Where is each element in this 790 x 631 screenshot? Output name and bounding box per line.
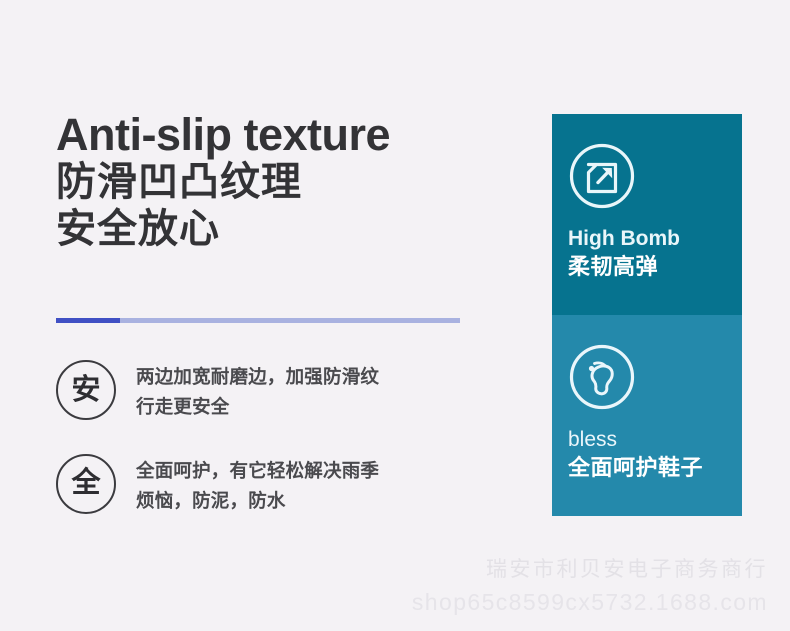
feature-card-panel: High Bomb 柔韧高弹 bless 全面呵护鞋子 — [552, 114, 742, 516]
footprint-icon — [568, 343, 636, 411]
list-item: 全 全面呵护，有它轻松解决雨季 烦恼，防泥，防水 — [56, 452, 516, 516]
watermark-shop-name: 瑞安市利贝安电子商务商行 — [412, 555, 768, 585]
section-divider — [56, 318, 460, 323]
card-chinese-label: 柔韧高弹 — [568, 253, 742, 282]
feature-card-bless: bless 全面呵护鞋子 — [552, 315, 742, 516]
product-detail-poster: Anti-slip texture 防滑凹凸纹理 安全放心 安 两边加宽耐磨边，… — [0, 0, 790, 631]
feature-text-line-2: 烦恼，防泥，防水 — [136, 486, 379, 516]
divider-accent-segment — [56, 318, 120, 323]
watermark-shop-url: shop65c8599cx5732.1688.com — [412, 586, 768, 619]
headline-english: Anti-slip texture — [56, 112, 526, 158]
feature-list: 安 两边加宽耐磨边，加强防滑纹 行走更安全 全 全面呵护，有它轻松解决雨季 烦恼… — [56, 358, 516, 546]
headline-block: Anti-slip texture 防滑凹凸纹理 安全放心 — [56, 112, 526, 254]
feature-text-line-1: 全面呵护，有它轻松解决雨季 — [136, 456, 379, 486]
headline-chinese-line-1: 防滑凹凸纹理 — [56, 158, 526, 207]
feature-text-line-1: 两边加宽耐磨边，加强防滑纹 — [136, 362, 379, 392]
card-chinese-label: 全面呵护鞋子 — [568, 454, 742, 483]
feature-text: 两边加宽耐磨边，加强防滑纹 行走更安全 — [136, 358, 379, 422]
watermark: 瑞安市利贝安电子商务商行 shop65c8599cx5732.1688.com — [412, 555, 768, 619]
circle-badge-icon: 安 — [56, 360, 116, 420]
circle-badge-icon: 全 — [56, 454, 116, 514]
feature-text-line-2: 行走更安全 — [136, 392, 379, 422]
feature-card-high-bomb: High Bomb 柔韧高弹 — [552, 114, 742, 315]
card-english-label: bless — [568, 427, 742, 452]
headline-chinese-line-2: 安全放心 — [56, 205, 526, 254]
feature-text: 全面呵护，有它轻松解决雨季 烦恼，防泥，防水 — [136, 452, 379, 516]
card-english-label: High Bomb — [568, 226, 742, 251]
expand-arrow-icon — [568, 142, 636, 210]
list-item: 安 两边加宽耐磨边，加强防滑纹 行走更安全 — [56, 358, 516, 422]
